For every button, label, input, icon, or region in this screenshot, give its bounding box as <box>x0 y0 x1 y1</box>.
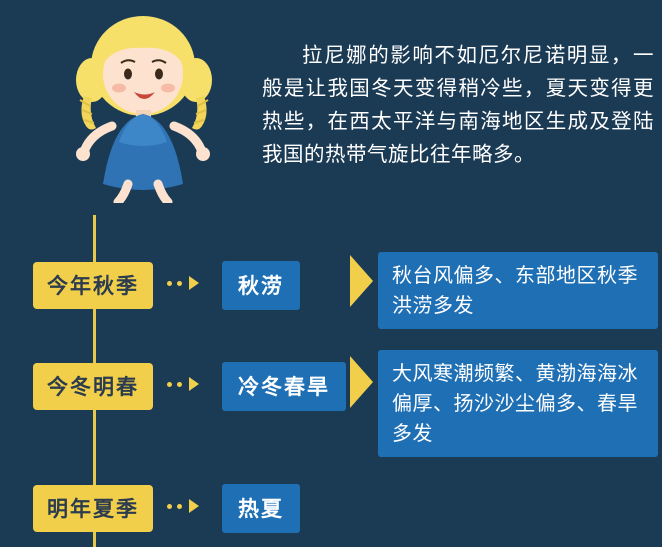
effect-label-3[interactable]: 热夏 <box>222 484 300 533</box>
timeline-row-1: 今年秋季 秋涝 秋台风偏多、东部地区秋季洪涝多发 <box>0 262 662 322</box>
stage-label-1[interactable]: 今年秋季 <box>33 262 153 309</box>
stage-label-3[interactable]: 明年夏季 <box>33 485 153 532</box>
effect-description-2[interactable]: 大风寒潮频繁、黄渤海海冰偏厚、扬沙沙尘偏多、春旱多发 <box>378 350 658 457</box>
effect-label-2[interactable]: 冷冬春旱 <box>222 362 346 411</box>
timeline-row-3: 明年夏季 热夏 <box>0 485 662 535</box>
connector-dots-2 <box>167 377 199 391</box>
chevron-arrow-2 <box>350 356 373 408</box>
connector-dots-3 <box>167 499 199 513</box>
timeline-row-2: 今冬明春 冷冬春旱 大风寒潮频繁、黄渤海海冰偏厚、扬沙沙尘偏多、春旱多发 <box>0 363 662 458</box>
intro-section: 拉尼娜的影响不如厄尔尼诺明显，一般是让我国冬天变得稍冷些，夏天变得更热些，在西太… <box>0 0 662 210</box>
intro-paragraph: 拉尼娜的影响不如厄尔尼诺明显，一般是让我国冬天变得稍冷些，夏天变得更热些，在西太… <box>262 39 654 171</box>
chevron-arrow-1 <box>350 255 373 307</box>
cartoon-girl-icon <box>40 8 250 203</box>
connector-dots-1 <box>167 276 199 290</box>
effect-description-1[interactable]: 秋台风偏多、东部地区秋季洪涝多发 <box>378 252 658 329</box>
effect-label-1[interactable]: 秋涝 <box>222 261 300 310</box>
stage-label-2[interactable]: 今冬明春 <box>33 363 153 410</box>
cartoon-girl-illustration <box>40 8 250 203</box>
infographic-root: 拉尼娜的影响不如厄尔尼诺明显，一般是让我国冬天变得稍冷些，夏天变得更热些，在西太… <box>0 0 662 547</box>
